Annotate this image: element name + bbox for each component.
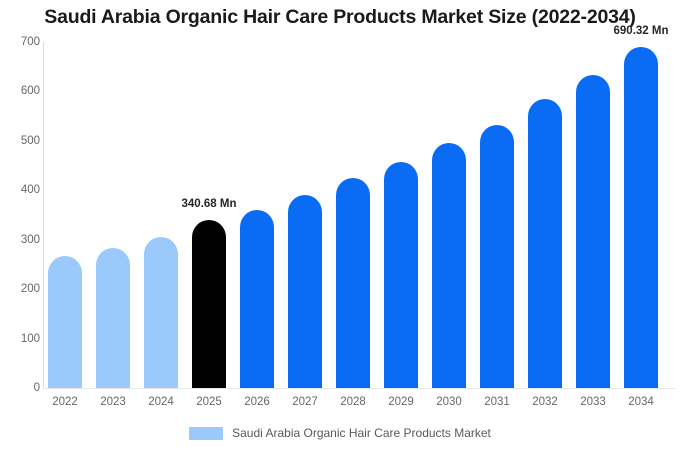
x-axis-tick-label-2030: 2030 <box>425 396 473 408</box>
x-axis-tick-label-2022: 2022 <box>41 396 89 408</box>
x-axis-tick-label-2028: 2028 <box>329 396 377 408</box>
x-axis-tick-label-2027: 2027 <box>281 396 329 408</box>
x-axis-tick-label-2025: 2025 <box>185 396 233 408</box>
x-axis: 202220232024340.68 Mn2025202620272028202… <box>0 0 680 450</box>
bar-value-label-2034: 690.32 Mn <box>614 25 669 37</box>
chart-legend: Saudi Arabia Organic Hair Care Products … <box>0 426 680 440</box>
x-axis-tick-label-2023: 2023 <box>89 396 137 408</box>
x-axis-tick-label-2031: 2031 <box>473 396 521 408</box>
x-axis-tick-label-2034: 2034 <box>617 396 665 408</box>
x-axis-tick-label-2032: 2032 <box>521 396 569 408</box>
legend-swatch-market <box>189 427 223 440</box>
x-axis-tick-label-2029: 2029 <box>377 396 425 408</box>
bar-chart: Saudi Arabia Organic Hair Care Products … <box>0 0 680 450</box>
x-axis-tick-label-2033: 2033 <box>569 396 617 408</box>
x-axis-tick-label-2026: 2026 <box>233 396 281 408</box>
bar-value-label-2025: 340.68 Mn <box>182 198 237 210</box>
x-axis-tick-label-2024: 2024 <box>137 396 185 408</box>
legend-label-market: Saudi Arabia Organic Hair Care Products … <box>232 426 491 440</box>
